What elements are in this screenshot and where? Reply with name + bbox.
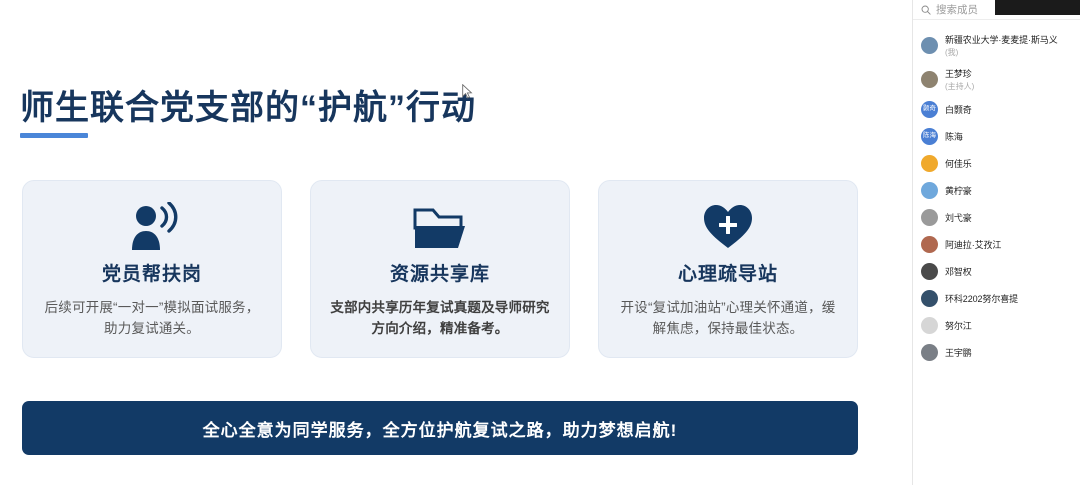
- list-item[interactable]: 何佳乐: [913, 150, 1080, 177]
- member-name: 刘弋豪: [945, 211, 972, 224]
- avatar: [921, 344, 938, 361]
- member-name: 白颢奇: [945, 103, 972, 116]
- slide-content: 师生联合党支部的“护航”行动 党员帮扶岗 后续可开展“一对一”模拟面试服务，助力…: [0, 0, 912, 485]
- feature-card-description: 支部内共享历年复试真题及导师研究方向介绍，精准备考。: [326, 297, 554, 339]
- list-item[interactable]: 新疆农业大学·麦麦提·斯马义 (我): [913, 28, 1080, 62]
- list-item[interactable]: 黄柠豪: [913, 177, 1080, 204]
- avatar: [921, 71, 938, 88]
- member-name: 王宇鹏: [945, 346, 972, 359]
- page-title: 师生联合党支部的“护航”行动: [20, 80, 476, 129]
- slogan-banner: 全心全意为同学服务，全方位护航复试之路，助力梦想启航!: [22, 401, 858, 455]
- feature-card-party-member-support: 党员帮扶岗 后续可开展“一对一”模拟面试服务，助力复试通关。: [22, 180, 282, 358]
- member-name: 努尔江: [945, 319, 972, 332]
- member-name: 阿迪拉·艾孜江: [945, 238, 1001, 251]
- feature-card-title: 心理疏导站: [678, 259, 778, 286]
- title-underline-accent: [20, 133, 88, 138]
- avatar: [921, 209, 938, 226]
- feature-card-title: 党员帮扶岗: [102, 259, 202, 286]
- avatar: [921, 37, 938, 54]
- member-list: 新疆农业大学·麦麦提·斯马义 (我) 王梦珍 (主持人) 颢奇 白颢奇 陈海: [913, 20, 1080, 366]
- avatar: [921, 290, 938, 307]
- avatar: [921, 155, 938, 172]
- list-item[interactable]: 陈海 陈海: [913, 123, 1080, 150]
- search-icon: [921, 5, 931, 15]
- toolbar-overlay-strip: [995, 0, 1080, 15]
- feature-card-resource-library: 资源共享库 支部内共享历年复试真题及导师研究方向介绍，精准备考。: [310, 180, 570, 358]
- feature-card-group: 党员帮扶岗 后续可开展“一对一”模拟面试服务，助力复试通关。 资源共享库 支部内…: [22, 180, 858, 358]
- member-name: 陈海: [945, 130, 963, 143]
- feature-card-description: 后续可开展“一对一”模拟面试服务，助力复试通关。: [38, 297, 266, 339]
- member-name: 王梦珍: [945, 67, 974, 80]
- member-name: 环科2202努尔喜提: [945, 292, 1018, 305]
- list-item[interactable]: 颢奇 白颢奇: [913, 96, 1080, 123]
- folder-icon: [411, 199, 469, 255]
- speaking-person-icon: [124, 199, 180, 255]
- meeting-screen-share-view: 师生联合党支部的“护航”行动 党员帮扶岗 后续可开展“一对一”模拟面试服务，助力…: [0, 0, 1080, 485]
- avatar: [921, 317, 938, 334]
- member-name: 黄柠豪: [945, 184, 972, 197]
- feature-card-title: 资源共享库: [390, 259, 490, 286]
- heart-plus-icon: [702, 199, 754, 255]
- search-placeholder-text: 搜索成员: [936, 2, 978, 17]
- feature-card-description: 开设“复试加油站”心理关怀通道，缓解焦虑，保持最佳状态。: [614, 297, 842, 339]
- list-item[interactable]: 王宇鹏: [913, 339, 1080, 366]
- member-name: 何佳乐: [945, 157, 972, 170]
- list-item[interactable]: 邓智权: [913, 258, 1080, 285]
- avatar: [921, 236, 938, 253]
- avatar: 颢奇: [921, 101, 938, 118]
- list-item[interactable]: 环科2202努尔喜提: [913, 285, 1080, 312]
- search-input[interactable]: 搜索成员: [913, 0, 1080, 20]
- avatar: [921, 263, 938, 280]
- list-item[interactable]: 王梦珍 (主持人): [913, 62, 1080, 96]
- member-role: (主持人): [945, 81, 974, 92]
- avatar: [921, 182, 938, 199]
- member-name: 新疆农业大学·麦麦提·斯马义: [945, 33, 1058, 46]
- list-item[interactable]: 努尔江: [913, 312, 1080, 339]
- list-item[interactable]: 阿迪拉·艾孜江: [913, 231, 1080, 258]
- member-panel: 搜索成员 新疆农业大学·麦麦提·斯马义 (我) 王梦珍 (主持人) 颢奇: [912, 0, 1080, 485]
- member-role: (我): [945, 47, 1058, 58]
- list-item[interactable]: 刘弋豪: [913, 204, 1080, 231]
- feature-card-psych-support: 心理疏导站 开设“复试加油站”心理关怀通道，缓解焦虑，保持最佳状态。: [598, 180, 858, 358]
- avatar: 陈海: [921, 128, 938, 145]
- member-name: 邓智权: [945, 265, 972, 278]
